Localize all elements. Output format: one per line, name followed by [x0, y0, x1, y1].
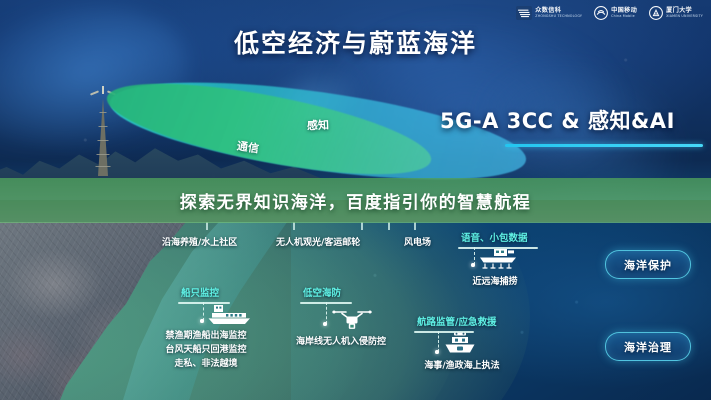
pointer-tick — [293, 222, 295, 230]
logo-zhongshu: 众数信科 ZHONGSHU TECHNOLOGY — [516, 6, 582, 20]
scenario-title-route-supervision: 航路监管/应急救援 — [417, 314, 496, 328]
wave-mark-icon — [516, 6, 532, 20]
ship-icon — [207, 304, 253, 326]
coastal-scenario-map: 沿海养殖/水上社区 无人机观光/客运邮轮 风电场 船只监控 禁渔期渔船出海监控 … — [0, 222, 711, 400]
scenario-title-low-altitude-defense: 低空海防 — [303, 285, 341, 299]
scenario-caption-low-altitude-defense: 海岸线无人机入侵防控 — [271, 334, 411, 347]
scenario-caption-offshore-fishing: 近远海捕捞 — [430, 274, 560, 287]
category-pill-marine-protection[interactable]: 海洋保护 — [605, 250, 691, 279]
leader-dash — [203, 302, 204, 321]
map-label-drone-tourism: 无人机观光/客运邮轮 — [276, 235, 360, 248]
scenario-title-ship-monitoring: 船只监控 — [181, 285, 219, 299]
category-pill-marine-governance[interactable]: 海洋治理 — [605, 332, 691, 361]
leader-dot — [323, 322, 327, 326]
logo-china-mobile: 中国移动 China Mobile — [594, 6, 637, 20]
pointer-tick — [206, 222, 208, 230]
logo-subtitle-xiamen: XIAMEN UNIVERSITY — [666, 15, 703, 18]
page-title: 低空经济与蔚蓝海洋 — [0, 24, 711, 60]
leader-dot — [200, 319, 204, 323]
xiamen-university-icon — [649, 6, 663, 20]
caption-line: 走私、非法越境 — [146, 357, 266, 371]
scenario-caption-maritime-enforcement: 海事/渔政海上执法 — [392, 358, 532, 371]
pointer-tick — [414, 222, 416, 230]
leader-dash — [438, 331, 439, 352]
caption-line: 禁渔期渔船出海监控 — [146, 329, 266, 343]
logo-subtitle-china-mobile: China Mobile — [611, 15, 637, 18]
scenario-caption-ship-monitoring: 禁渔期渔船出海监控 台风天船只回港监控 走私、非法越境 — [146, 329, 266, 371]
map-label-wind-farm: 风电场 — [404, 235, 431, 248]
leader-dot — [471, 263, 475, 267]
drone-icon — [330, 308, 374, 332]
caption-line: 台风天船只回港监控 — [146, 343, 266, 357]
overlay-banner: 探索无界知识海洋，百度指引你的智慧航程 — [0, 178, 711, 223]
patrol-vessel-icon — [443, 332, 477, 357]
scenario-title-voice-small-packet: 语音、小包数据 — [461, 230, 528, 244]
china-mobile-icon — [594, 6, 608, 20]
slide-canvas: 低空经济与蔚蓝海洋 众数信科 ZHONGSHU TECHNOLOGY — [0, 0, 711, 400]
pointer-tick — [361, 222, 363, 230]
headline-underline — [505, 144, 703, 147]
pointer-tick — [388, 222, 390, 230]
leader-dot — [435, 350, 439, 354]
fishing-boat-icon — [478, 248, 520, 274]
partner-logo-strip: 众数信科 ZHONGSHU TECHNOLOGY 中国移动 China Mobi… — [516, 6, 703, 20]
map-label-coastal-aquaculture: 沿海养殖/水上社区 — [162, 235, 237, 248]
headline-5ga: 5G-A 3CC & 感知&AI — [440, 105, 675, 135]
hero-underwater-scene: 低空经济与蔚蓝海洋 众数信科 ZHONGSHU TECHNOLOGY — [0, 0, 711, 200]
leader-dash — [326, 302, 327, 324]
logo-xiamen-university: 厦门大学 XIAMEN UNIVERSITY — [649, 6, 703, 20]
beam-label-communication: 通信 — [236, 138, 260, 157]
overlay-banner-text: 探索无界知识海洋，百度指引你的智慧航程 — [180, 188, 532, 213]
logo-subtitle-zhongshu: ZHONGSHU TECHNOLOGY — [535, 15, 582, 18]
beam-label-sensing: 感知 — [307, 117, 330, 134]
